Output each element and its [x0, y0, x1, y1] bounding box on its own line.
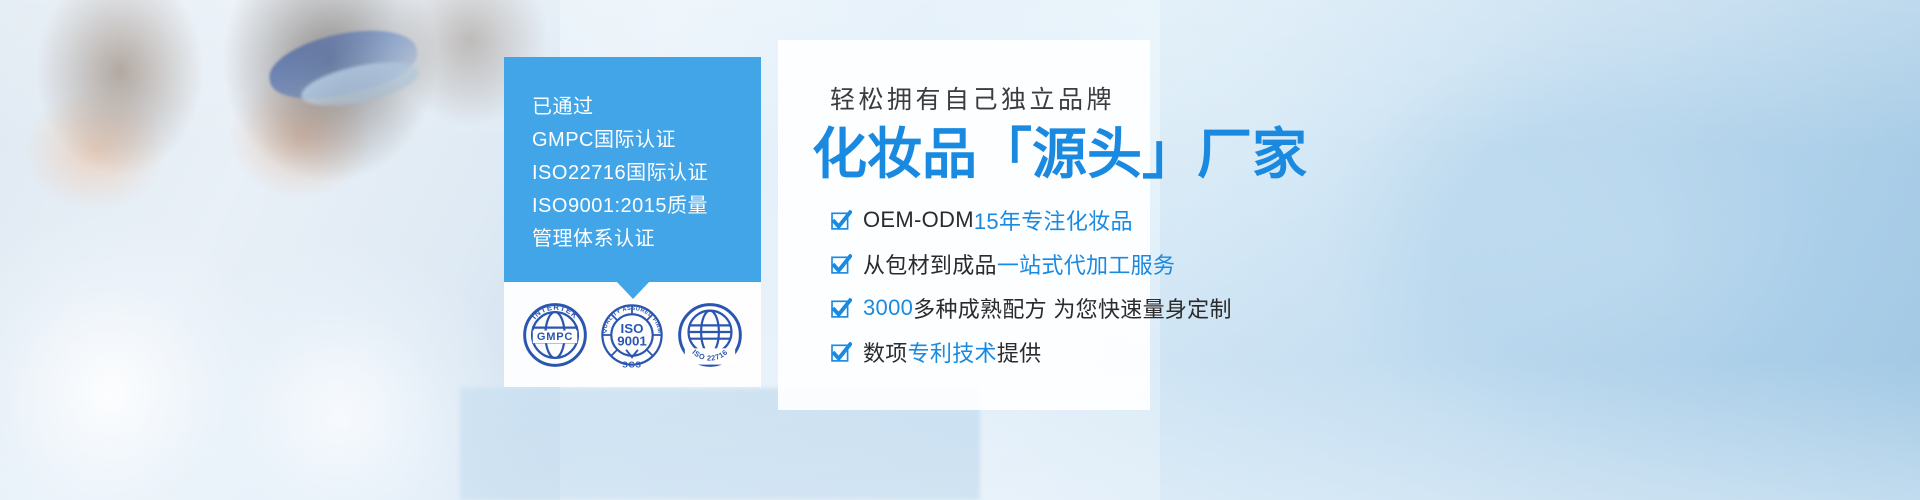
certification-line-4: ISO9001:2015质量	[532, 190, 761, 223]
feature-item-4-highlight: 专利技术	[908, 336, 997, 368]
feature-item-2-prefix: 从包材到成品	[863, 248, 997, 280]
feature-item-3: 3000多种成熟配方 为您快速量身定制	[830, 292, 1150, 324]
checkbox-checked-icon	[830, 254, 852, 276]
certification-line-1: 已通过	[532, 91, 761, 124]
svg-text:SGS: SGS	[623, 360, 642, 369]
certification-line-3: ISO22716国际认证	[532, 157, 761, 190]
feature-item-3-highlight: 3000	[863, 295, 913, 321]
feature-item-1: OEM-ODM 15年专注化妆品	[830, 204, 1150, 236]
feature-item-1-prefix: OEM-ODM	[863, 207, 974, 233]
feature-list: OEM-ODM 15年专注化妆品 从包材到成品 一站式代加工服务 3000多种成…	[830, 204, 1150, 368]
iso9001-sgs-logo: ISO 9001 SGS QUALITY ASSURED FIRM	[595, 298, 669, 372]
main-content-panel: 轻松拥有自己独立品牌 化妆品「源头」厂家 OEM-ODM 15年专注化妆品 从包…	[778, 40, 1150, 410]
checkbox-checked-icon	[830, 298, 852, 320]
panel-subheading: 轻松拥有自己独立品牌	[830, 80, 1150, 116]
iso22716-logo: ISO 22716	[673, 298, 747, 372]
feature-item-2: 从包材到成品 一站式代加工服务	[830, 248, 1150, 280]
down-arrow-pointer	[616, 281, 650, 299]
feature-item-4-prefix: 数项	[863, 336, 908, 368]
feature-item-4: 数项专利技术提供	[830, 336, 1150, 368]
checkbox-checked-icon	[830, 342, 852, 364]
svg-text:GMPC: GMPC	[537, 331, 573, 343]
feature-item-1-highlight: 15年专注化妆品	[974, 204, 1133, 236]
feature-item-4-suffix: 提供	[997, 336, 1042, 368]
panel-headline: 化妆品「源头」厂家	[812, 124, 1150, 186]
feature-item-3-suffix: 多种成熟配方 为您快速量身定制	[913, 292, 1232, 324]
promo-banner: 已通过 GMPC国际认证 ISO22716国际认证 ISO9001:2015质量…	[0, 0, 1920, 500]
feature-item-2-highlight: 一站式代加工服务	[997, 248, 1175, 280]
certification-line-5: 管理体系认证	[532, 223, 761, 256]
svg-text:9001: 9001	[618, 333, 648, 348]
certification-card: 已通过 GMPC国际认证 ISO22716国际认证 ISO9001:2015质量…	[504, 57, 761, 387]
certification-blue-box: 已通过 GMPC国际认证 ISO22716国际认证 ISO9001:2015质量…	[504, 57, 761, 282]
checkbox-checked-icon	[830, 210, 852, 232]
intertek-gmpc-logo: GMPC INTERTEK	[518, 298, 592, 372]
certification-line-2: GMPC国际认证	[532, 124, 761, 157]
